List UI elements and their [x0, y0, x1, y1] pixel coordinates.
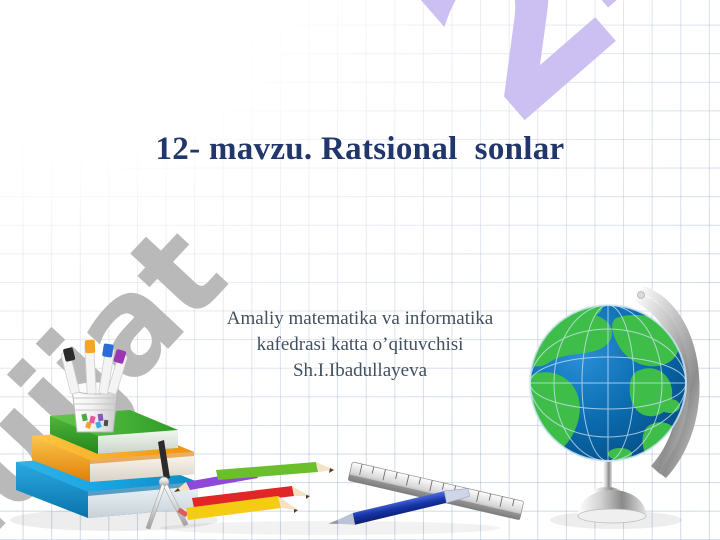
subtitle-line-1: Amaliy matematika va informatika: [0, 306, 720, 332]
subtitle-line-2: kafedrasi katta o’qituvchisi: [0, 332, 720, 358]
presentation-slide: hujjat 24: [0, 0, 720, 540]
stationery-illustration: [130, 440, 530, 540]
slide-title: 12- mavzu. Ratsional sonlar: [0, 131, 720, 168]
subtitle-line-3: Sh.I.Ibadullayeva: [0, 358, 720, 384]
slide-subtitle: Amaliy matematika va informatika kafedra…: [0, 306, 720, 384]
